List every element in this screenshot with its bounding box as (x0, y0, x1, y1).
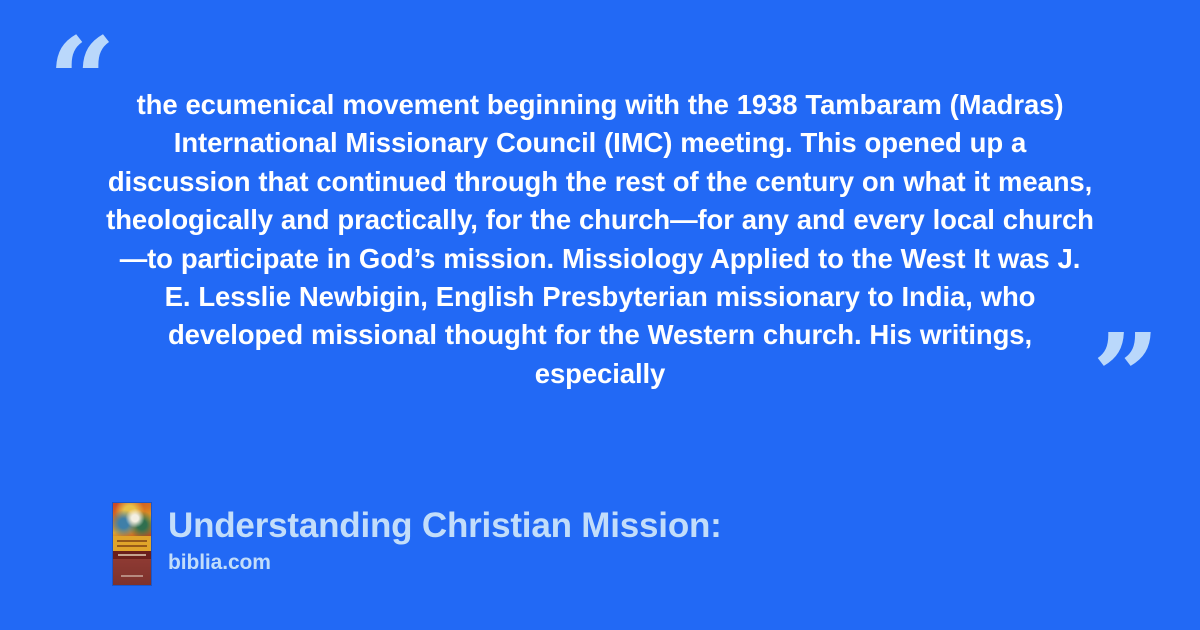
quote-card: “ the ecumenical movement beginning with… (0, 0, 1200, 630)
close-quote-icon: ” (1092, 318, 1160, 436)
source-text-block: Understanding Christian Mission: biblia.… (168, 503, 722, 577)
book-cover-lower-panel (113, 559, 151, 585)
book-cover-artwork (113, 503, 151, 536)
quote-text: the ecumenical movement beginning with t… (104, 86, 1096, 393)
book-cover-author-line (121, 575, 144, 577)
book-cover-subtitle-line (118, 554, 147, 556)
book-cover-title-line-2 (117, 545, 147, 547)
book-cover-title-line-1 (117, 540, 147, 542)
source-attribution[interactable]: Understanding Christian Mission: biblia.… (113, 503, 722, 585)
book-title: Understanding Christian Mission: (168, 505, 722, 547)
book-cover-title-band (113, 536, 151, 552)
site-name[interactable]: biblia.com (168, 549, 722, 577)
book-cover-icon (113, 503, 151, 585)
book-cover-subtitle-strip (113, 551, 151, 558)
